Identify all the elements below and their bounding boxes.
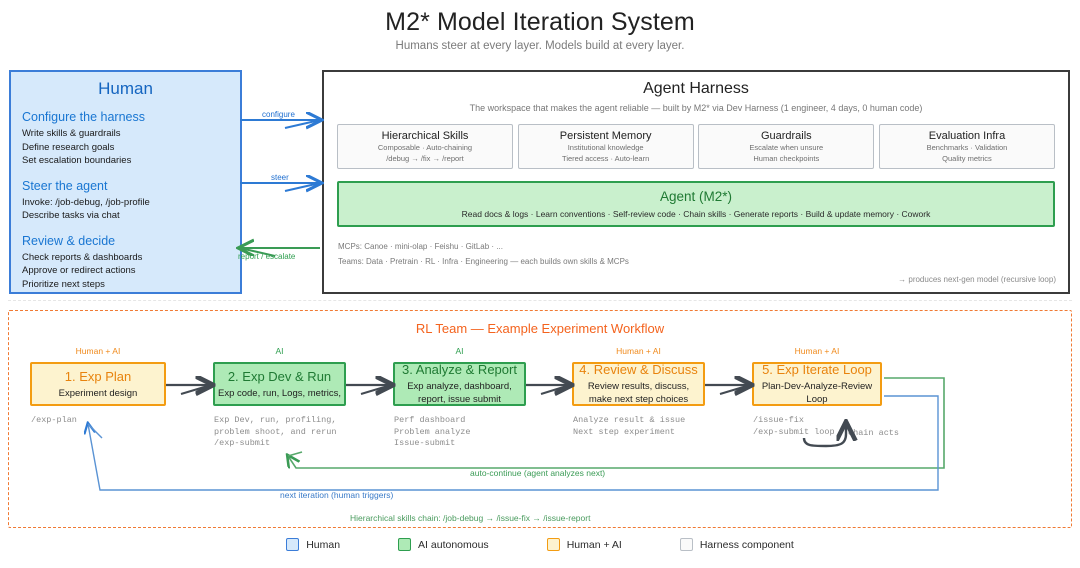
workflow-step-4[interactable]: Human + AI 4. Review & Discuss Review re… [572, 362, 705, 406]
harness-component-cards: Hierarchical Skills Composable · Auto-ch… [337, 124, 1055, 169]
harness-card-persistent-memory[interactable]: Persistent Memory Institutional knowledg… [518, 124, 694, 169]
loop-label-auto-continue: auto-continue (agent analyzes next) [470, 468, 605, 478]
step-heading: 1. Exp Plan [65, 369, 132, 384]
workflow-step-5[interactable]: Human + AI 5. Exp Iterate Loop Plan-Dev-… [752, 362, 882, 406]
page-title: M2* Model Iteration System [0, 8, 1080, 37]
step-1-note: /exp-plan [31, 415, 77, 427]
human-bullet: Define research goals [22, 141, 240, 155]
step-tag: Human + AI [752, 346, 882, 356]
harness-card-line2: Quality metrics [942, 154, 992, 164]
legend-swatch-icon [680, 538, 693, 551]
human-bullet: Describe tasks via chat [22, 209, 240, 223]
harness-subtitle: The workspace that makes the agent relia… [324, 103, 1068, 113]
step-heading: 3. Analyze & Report [402, 362, 517, 377]
step-tag: AI [213, 346, 346, 356]
harness-card-title: Guardrails [761, 130, 812, 142]
human-panel: Human Configure the harness Write skills… [9, 70, 242, 294]
agent-harness-panel: Agent Harness The workspace that makes t… [322, 70, 1070, 294]
step-box[interactable]: 2. Exp Dev & Run Exp code, run, Logs, me… [213, 362, 346, 406]
harness-card-line2: Human checkpoints [753, 154, 819, 164]
chain-acts-label: chain acts [848, 428, 899, 438]
harness-card-title: Hierarchical Skills [382, 130, 469, 142]
step-3-note: Perf dashboard Problem analyze Issue-sub… [394, 415, 471, 450]
human-bullet: Write skills & guardrails [22, 127, 240, 141]
harness-card-line1: Escalate when unsure [749, 143, 823, 153]
legend-label: AI autonomous [418, 539, 489, 551]
workflow-step-1[interactable]: Human + AI 1. Exp Plan Experiment design [30, 362, 166, 406]
harness-card-title: Evaluation Infra [929, 130, 1005, 142]
step-heading: 5. Exp Iterate Loop [762, 362, 872, 377]
harness-card-evaluation-infra[interactable]: Evaluation Infra Benchmarks · Validation… [879, 124, 1055, 169]
workflow-step-3[interactable]: AI 3. Analyze & Report Exp analyze, dash… [393, 362, 526, 406]
human-bullet: Prioritize next steps [22, 278, 240, 292]
harness-title: Agent Harness [324, 80, 1068, 98]
harness-card-line1: Composable · Auto-chaining [378, 143, 472, 153]
step-description: Experiment design [59, 387, 138, 400]
section-divider [8, 300, 1072, 301]
skills-chain-label: Hierarchical skills chain: /job-debug → … [350, 513, 590, 523]
step-2-note: Exp Dev, run, profiling, problem shoot, … [214, 415, 336, 450]
harness-footer-teams: Teams: Data · Pretrain · RL · Infra · En… [338, 254, 1068, 269]
step-box[interactable]: 3. Analyze & Report Exp analyze, dashboa… [393, 362, 526, 406]
legend-item-human-plus-ai: Human + AI [547, 538, 622, 551]
agent-box-capabilities: Read docs & logs · Learn conventions · S… [462, 209, 931, 219]
step-heading: 4. Review & Discuss [579, 362, 697, 377]
harness-card-line1: Benchmarks · Validation [927, 143, 1008, 153]
human-section-heading: Steer the agent [22, 179, 240, 193]
legend-item-human: Human [286, 538, 340, 551]
harness-card-line1: Institutional knowledge [568, 143, 644, 153]
connector-label-steer: steer [271, 173, 289, 182]
connector-label-configure: configure [262, 110, 295, 119]
harness-produces-note: → produces next-gen model (recursive loo… [898, 275, 1056, 284]
loop-label-next-iteration: next iteration (human triggers) [280, 490, 393, 500]
legend-swatch-icon [547, 538, 560, 551]
human-section-configure: Configure the harness Write skills & gua… [22, 110, 240, 168]
human-bullet: Set escalation boundaries [22, 154, 240, 168]
human-panel-title: Human [11, 79, 240, 99]
legend-label: Human + AI [567, 539, 622, 551]
step-box[interactable]: 5. Exp Iterate Loop Plan-Dev-Analyze-Rev… [752, 362, 882, 406]
step-description: Plan-Dev-Analyze-Review Loop [762, 380, 872, 406]
step-description: Exp code, run, Logs, metrics, [218, 387, 341, 400]
step-4-note: Analyze result & issue Next step experim… [573, 415, 685, 438]
human-bullet: Approve or redirect actions [22, 264, 240, 278]
diagram-canvas: M2* Model Iteration System Humans steer … [0, 0, 1080, 568]
harness-footer-mcps: MCPs: Canoe · mini-olap · Feishu · GitLa… [338, 239, 1068, 254]
workflow-title: RL Team — Example Experiment Workflow [9, 321, 1071, 336]
legend-label: Human [306, 539, 340, 551]
page-subtitle: Humans steer at every layer. Models buil… [0, 40, 1080, 52]
harness-card-title: Persistent Memory [560, 130, 652, 142]
legend-item-ai-autonomous: AI autonomous [398, 538, 489, 551]
workflow-container: RL Team — Example Experiment Workflow [8, 310, 1072, 528]
workflow-step-2[interactable]: AI 2. Exp Dev & Run Exp code, run, Logs,… [213, 362, 346, 406]
step-tag: AI [393, 346, 526, 356]
human-bullet: Invoke: /job-debug, /job-profile [22, 196, 240, 210]
human-section-steer: Steer the agent Invoke: /job-debug, /job… [22, 179, 240, 223]
step-heading: 2. Exp Dev & Run [228, 369, 331, 384]
human-section-heading: Review & decide [22, 234, 240, 248]
step-tag: Human + AI [572, 346, 705, 356]
step-description: Review results, discuss, make next step … [588, 380, 689, 406]
legend-swatch-icon [286, 538, 299, 551]
agent-box[interactable]: Agent (M2*) Read docs & logs · Learn con… [337, 181, 1055, 227]
human-section-review: Review & decide Check reports & dashboar… [22, 234, 240, 292]
agent-box-title: Agent (M2*) [660, 189, 732, 204]
legend-item-harness-component: Harness component [680, 538, 794, 551]
step-box[interactable]: 4. Review & Discuss Review results, disc… [572, 362, 705, 406]
legend-swatch-icon [398, 538, 411, 551]
step-5-note: /issue-fix /exp-submit loop [753, 415, 835, 438]
human-bullet: Check reports & dashboards [22, 251, 240, 265]
harness-footer: MCPs: Canoe · mini-olap · Feishu · GitLa… [338, 239, 1068, 269]
harness-card-line2: /debug → /fix → /report [386, 154, 464, 164]
legend-label: Harness component [700, 539, 794, 551]
step-tag: Human + AI [30, 346, 166, 356]
harness-card-hierarchical-skills[interactable]: Hierarchical Skills Composable · Auto-ch… [337, 124, 513, 169]
legend: Human AI autonomous Human + AI Harness c… [0, 538, 1080, 551]
connector-label-report-escalate: report / escalate [238, 252, 295, 261]
step-description: Exp analyze, dashboard, report, issue su… [407, 380, 512, 406]
human-section-heading: Configure the harness [22, 110, 240, 124]
harness-card-guardrails[interactable]: Guardrails Escalate when unsure Human ch… [698, 124, 874, 169]
harness-card-line2: Tiered access · Auto-learn [562, 154, 649, 164]
step-box[interactable]: 1. Exp Plan Experiment design [30, 362, 166, 406]
